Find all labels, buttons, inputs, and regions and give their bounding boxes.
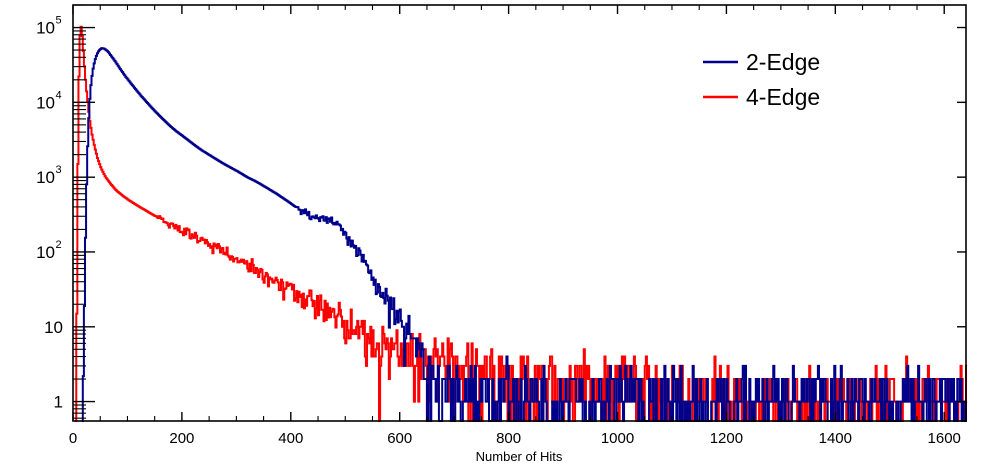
y-tick-exponent: 5 [56,15,62,27]
y-tick-mantissa: 10 [44,318,63,337]
legend-label-4-edge: 4-Edge [746,84,820,110]
y-tick-label: 1 [54,393,63,412]
x-tick-label: 600 [387,430,412,447]
y-tick-label: 10 [44,318,63,337]
x-tick-label: 1400 [819,430,852,447]
x-tick-label: 1000 [601,430,634,447]
y-tick-exponent: 3 [56,164,62,176]
x-tick-label: 0 [69,430,77,447]
y-tick-mantissa: 10 [36,243,55,262]
y-tick-mantissa: 10 [36,19,55,38]
chart-canvas: 0200400600800100012001400160011010210310… [0,0,996,472]
x-axis-title: Number of Hits [476,449,563,464]
y-tick-mantissa: 10 [36,168,55,187]
x-tick-label: 1600 [928,430,961,447]
histogram-plot: 0200400600800100012001400160011010210310… [0,0,996,472]
y-tick-mantissa: 10 [36,93,55,112]
x-tick-label: 800 [496,430,521,447]
y-tick-mantissa: 1 [54,393,63,412]
y-tick-exponent: 4 [56,89,62,101]
y-tick-exponent: 2 [56,239,62,251]
x-tick-label: 400 [278,430,303,447]
x-tick-label: 200 [169,430,194,447]
legend-label-2-edge: 2-Edge [746,49,820,75]
x-tick-label: 1200 [710,430,743,447]
